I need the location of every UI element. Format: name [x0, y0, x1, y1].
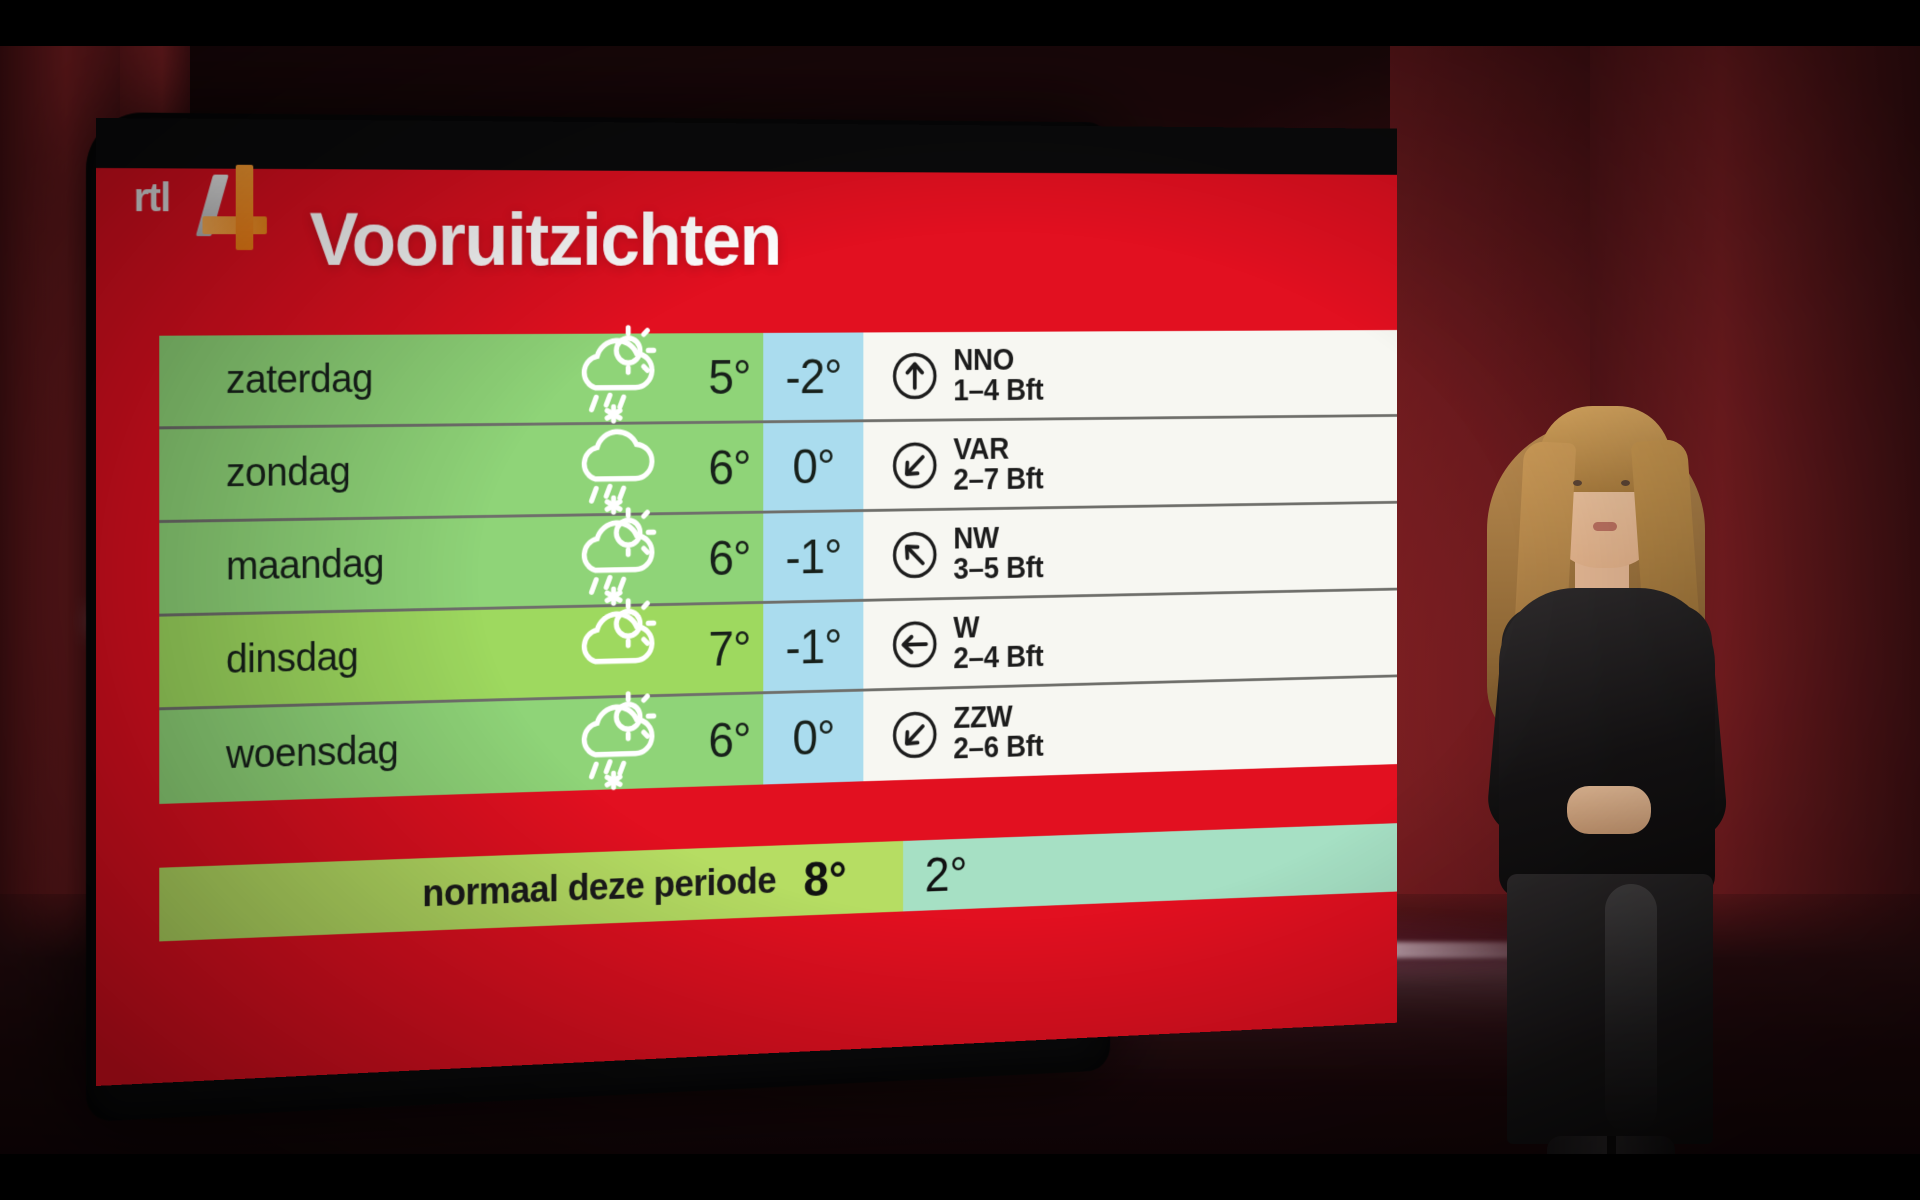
- wind-arrow-right-icon: [890, 618, 939, 671]
- wind-arrow-down-icon: [890, 350, 939, 402]
- max-temp: 6°: [708, 530, 750, 587]
- forecast-graphic: rtl Vooruitzichten zaterdag: [96, 118, 1397, 1086]
- broadcast-screenshot: rtl Vooruitzichten zaterdag: [0, 0, 1920, 1200]
- wind-arrow-up-right-icon: [890, 709, 939, 762]
- wind-speed: 2–7 Bft: [953, 461, 1043, 495]
- min-temp: 0°: [793, 710, 835, 767]
- normal-period-max-temp: 8°: [803, 841, 903, 916]
- normal-period-min-temp: 2°: [903, 823, 1397, 911]
- presenter-torso: [1499, 588, 1715, 898]
- day-name: maandag: [159, 542, 384, 591]
- min-temp: -2°: [785, 348, 841, 404]
- day-cell: zaterdag: [159, 334, 557, 426]
- wind-speed: 1–4 Bft: [953, 373, 1043, 407]
- max-temp-cell: 6°: [675, 694, 763, 787]
- wind-cell: W 2–4 Bft: [863, 590, 1397, 688]
- presenter-leg-gap: [1607, 1136, 1616, 1154]
- forecast-row: zaterdag 5° -2°: [159, 330, 1397, 429]
- day-cell: maandag: [159, 517, 557, 614]
- max-temp-cell: 7°: [675, 604, 763, 694]
- logo-four-horizontal: [202, 216, 266, 234]
- max-temp-cell: 6°: [675, 514, 763, 603]
- max-temp-cell: 6°: [675, 423, 763, 512]
- min-temp: -1°: [785, 528, 841, 585]
- weather-icon-cell: [557, 333, 674, 422]
- min-temp-cell: -2°: [763, 332, 863, 420]
- min-temp: 0°: [793, 438, 835, 494]
- day-name: zaterdag: [159, 357, 373, 403]
- wind-direction: NNO: [953, 343, 1014, 377]
- min-temp: -1°: [785, 618, 841, 675]
- letterbox-bottom: [0, 1154, 1920, 1200]
- graphic-top-bar: [96, 118, 1397, 175]
- max-temp: 5°: [708, 349, 750, 405]
- weather-icon-cell: [557, 515, 674, 605]
- day-cell: dinsdag: [159, 608, 557, 707]
- rtl-wordmark: rtl: [134, 176, 170, 221]
- min-temp-cell: -1°: [763, 512, 863, 601]
- max-temp-cell: 5°: [675, 333, 763, 421]
- max-temp: 6°: [708, 712, 750, 769]
- day-name: woensdag: [159, 728, 398, 780]
- min-temp-cell: 0°: [763, 422, 863, 510]
- wind-cell: ZZW 2–6 Bft: [863, 677, 1397, 781]
- wind-speed: 3–5 Bft: [953, 550, 1043, 585]
- presenter-mouth: [1593, 522, 1617, 531]
- studio-background: rtl Vooruitzichten zaterdag: [0, 46, 1920, 1154]
- wind-direction: W: [953, 611, 979, 645]
- normal-period-bar: normaal deze periode 8° 2°: [159, 823, 1397, 941]
- day-cell: zondag: [159, 425, 557, 520]
- day-name: zondag: [159, 450, 350, 497]
- day-name: dinsdag: [159, 635, 358, 684]
- presenter-skirt-highlight: [1605, 884, 1657, 1134]
- presenter-eye-right: [1621, 480, 1630, 486]
- wind-cell: VAR 2–7 Bft: [863, 417, 1397, 509]
- wind-speed: 2–4 Bft: [953, 639, 1043, 674]
- rtl4-logo: rtl: [134, 158, 261, 250]
- logo-four-vertical: [236, 165, 254, 250]
- min-temp-cell: 0°: [763, 692, 863, 785]
- weather-icon-cell: [557, 697, 674, 792]
- presenter-eye-left: [1573, 480, 1582, 486]
- wind-speed: 2–6 Bft: [953, 729, 1043, 765]
- weather-presenter: [1455, 376, 1785, 1154]
- max-temp: 7°: [708, 620, 750, 677]
- wind-direction: NW: [953, 521, 999, 555]
- wind-arrow-down-right-icon: [890, 528, 939, 580]
- max-temp: 6°: [708, 439, 750, 495]
- day-cell: woensdag: [159, 700, 557, 804]
- min-temp-cell: -1°: [763, 602, 863, 692]
- presenter-hands: [1567, 786, 1651, 834]
- wind-cell: NW 3–5 Bft: [863, 504, 1397, 599]
- wind-cell: NNO 1–4 Bft: [863, 330, 1397, 419]
- wind-direction: VAR: [953, 432, 1009, 466]
- normal-period-label: normaal deze periode: [159, 845, 803, 942]
- weather-display-screen: rtl Vooruitzichten zaterdag: [96, 118, 1397, 1086]
- page-title: Vooruitzichten: [310, 197, 781, 283]
- letterbox-top: [0, 0, 1920, 46]
- weather-icon-cell: [557, 424, 674, 514]
- wind-arrow-up-right-icon: [890, 439, 939, 491]
- forecast-table: zaterdag 5° -2°: [159, 330, 1397, 804]
- weather-icon-cell: [557, 606, 674, 697]
- sun-cloud-rain-snow-icon: [568, 690, 665, 799]
